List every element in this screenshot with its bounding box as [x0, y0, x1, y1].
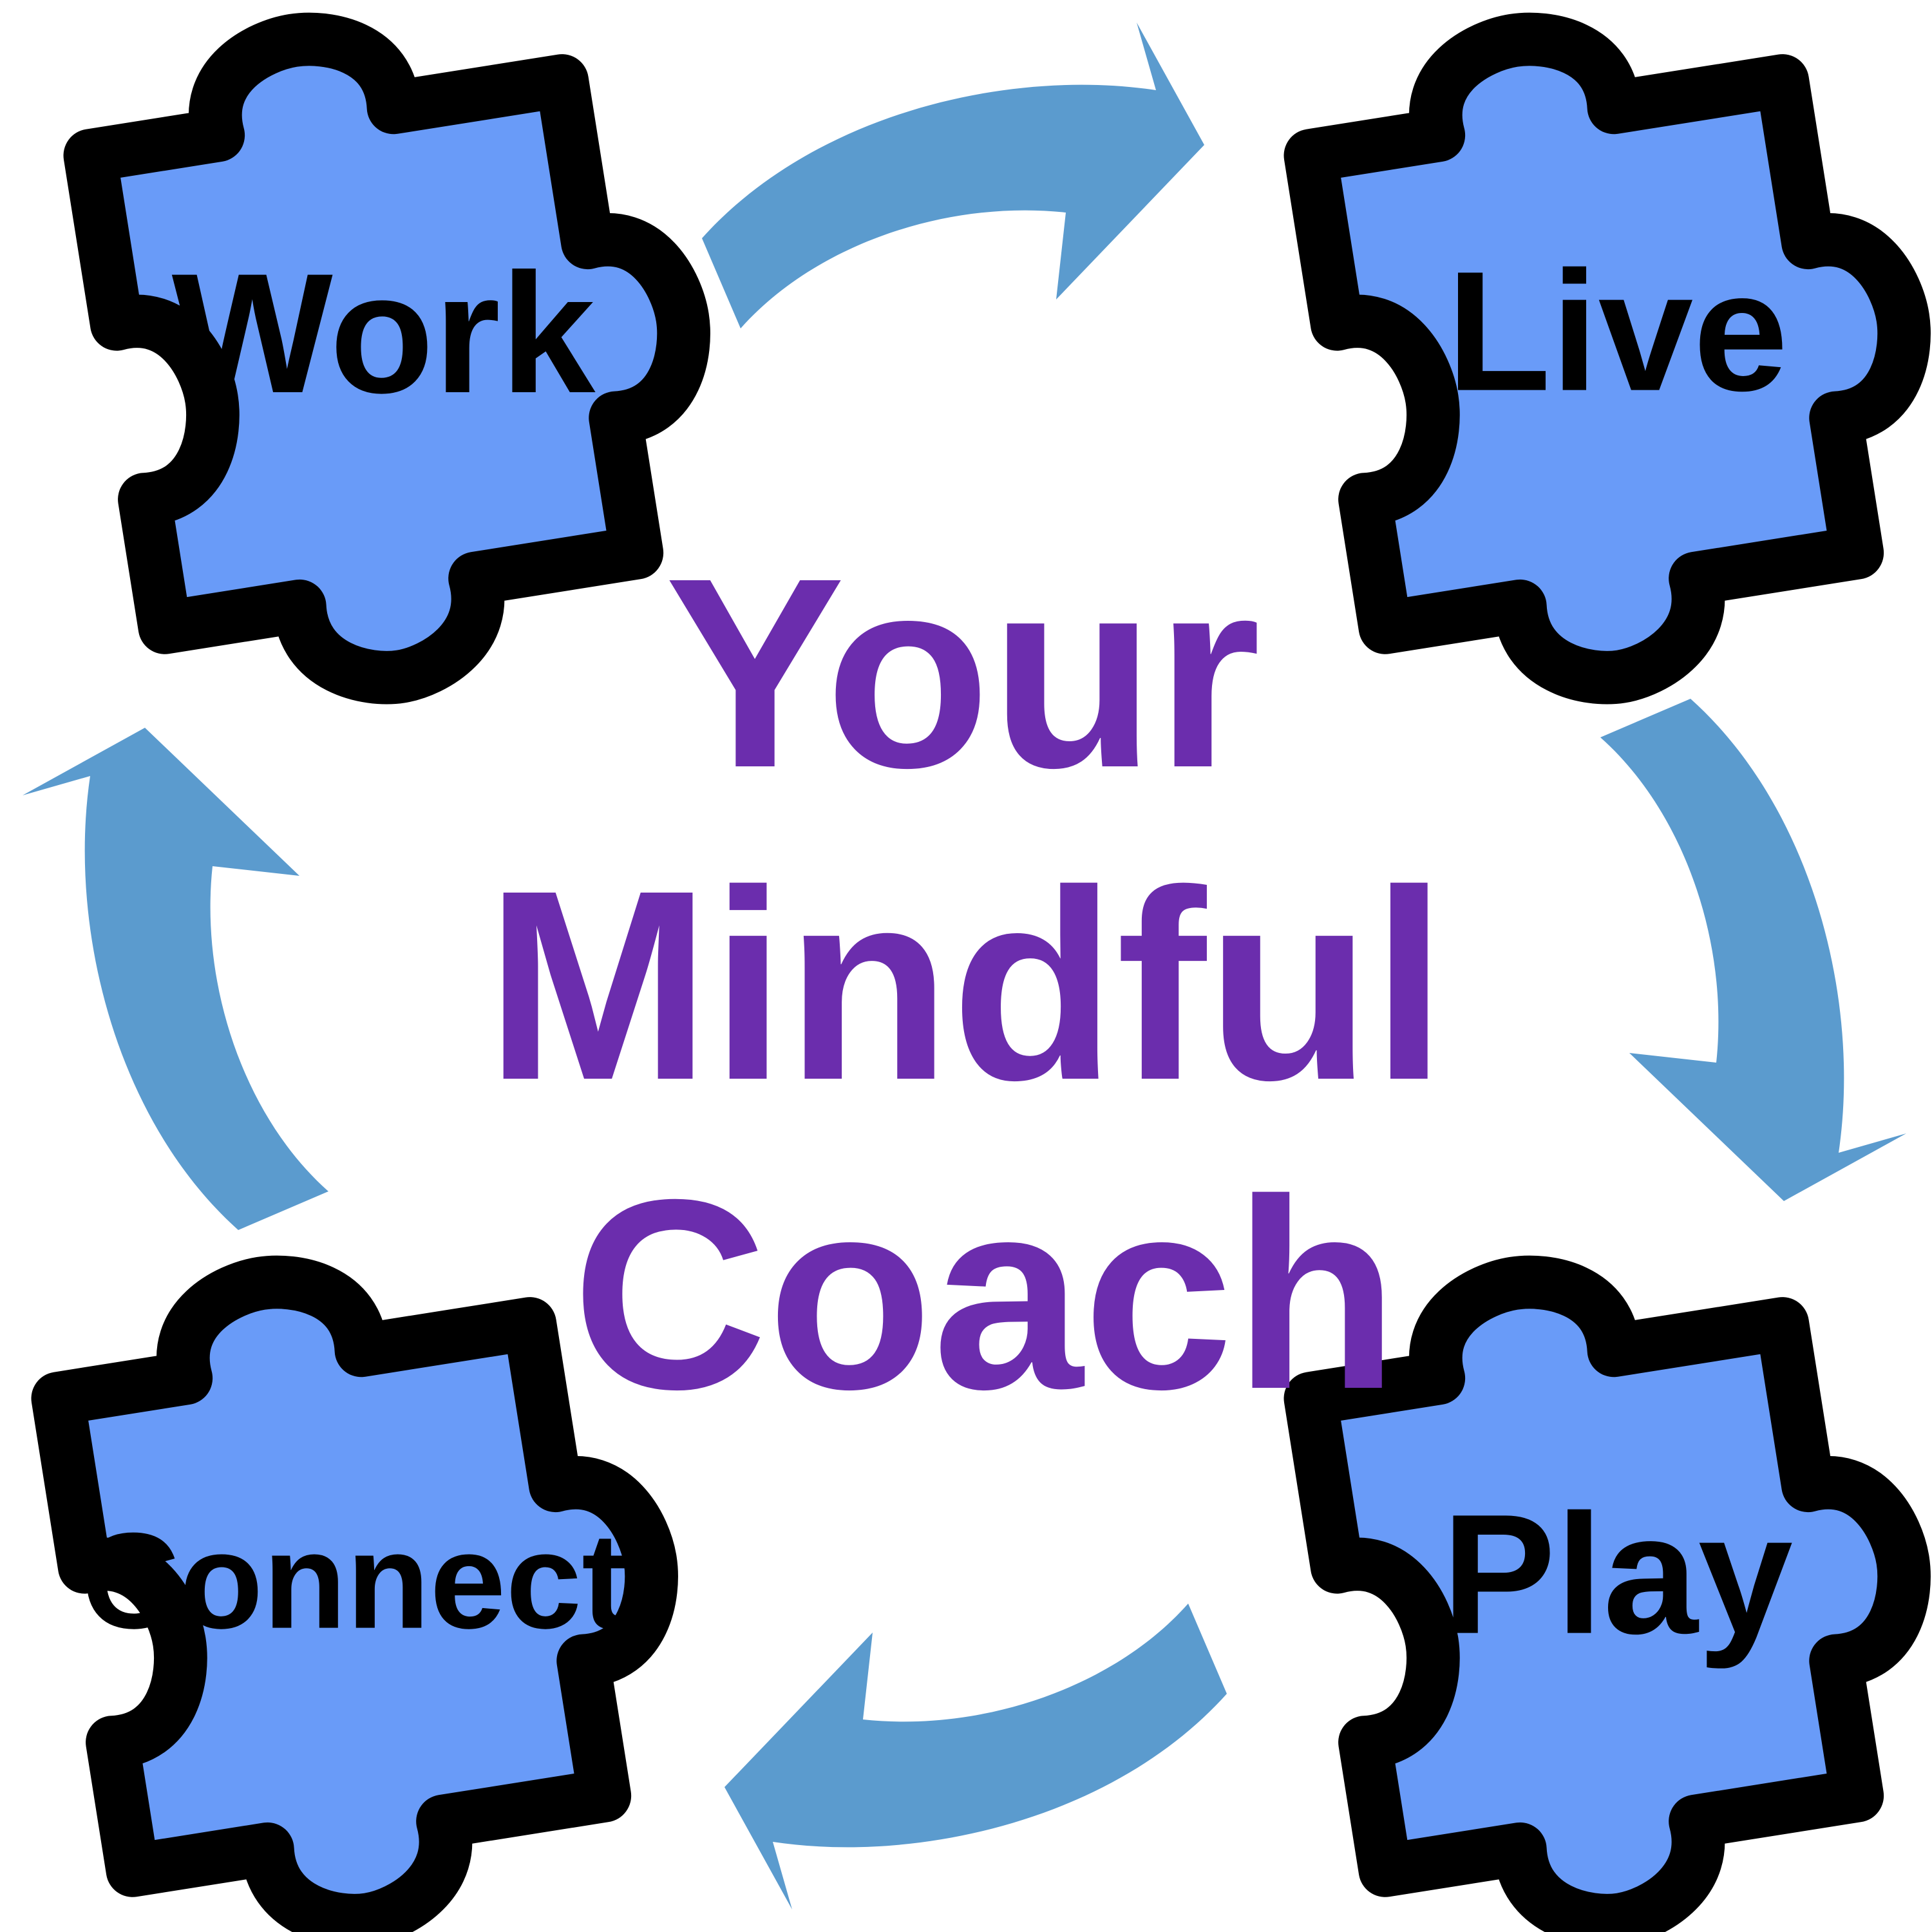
logo-canvas: Work Live Play Connect Your Mindful Coac…: [0, 0, 1932, 1932]
puzzle-label-work: Work: [172, 238, 596, 429]
puzzle-label-live: Live: [1446, 236, 1788, 427]
brand-line-your: Your: [665, 522, 1261, 824]
puzzle-label-play: Play: [1442, 1479, 1794, 1671]
brand-line-mindful: Mindful: [486, 835, 1447, 1137]
your-mindful-coach-logo: Work Live Play Connect Your Mindful Coac…: [0, 0, 1932, 1932]
puzzle-label-connect: Connect: [81, 1504, 627, 1657]
brand-line-coach: Coach: [572, 1144, 1399, 1446]
